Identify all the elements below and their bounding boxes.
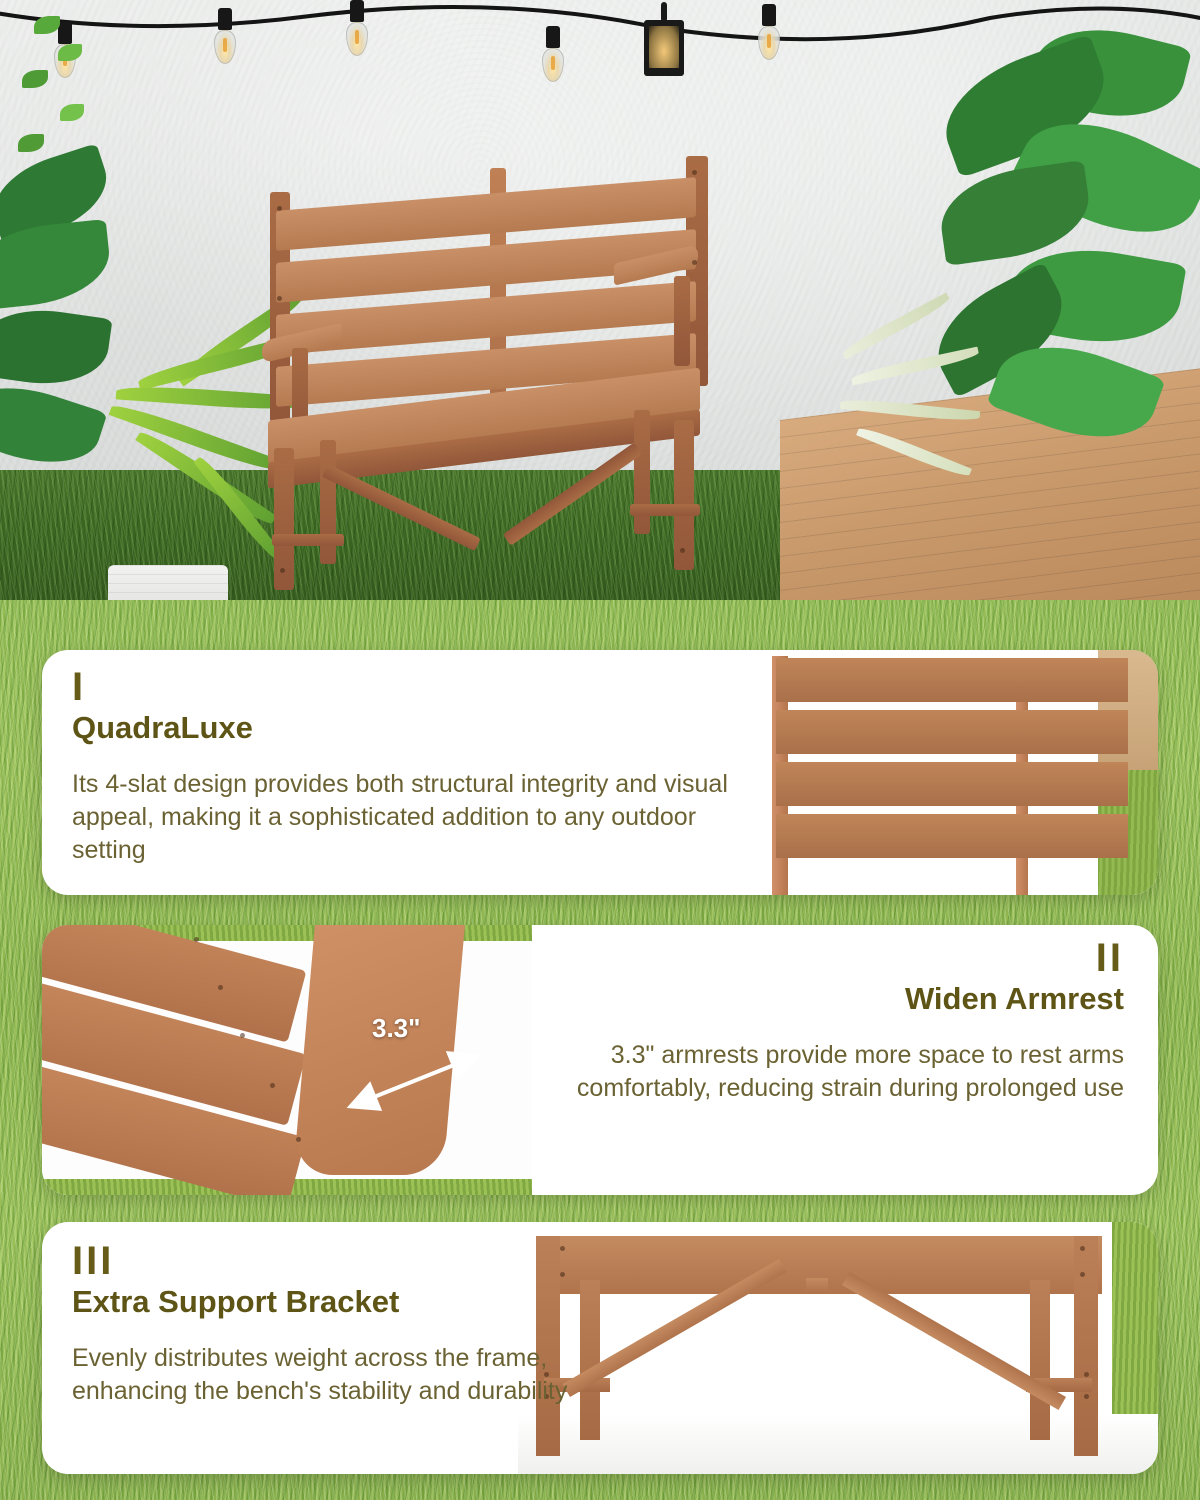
backrest-slat [776,762,1128,806]
bench-stretcher-left [272,534,344,546]
hero-product-photo [0,0,1200,660]
backrest-closeup-image [758,650,1158,895]
armrest-dimension-label: 3.3" [372,1013,420,1044]
backrest-slat [776,710,1128,754]
dimension-arrow-icon [342,1045,522,1125]
floor-shadow [518,1414,1158,1474]
backrest-slat [776,658,1128,702]
feature-2-media: 3.3" [42,925,532,1195]
feature-2-title: Widen Armrest [504,981,1124,1017]
feature-2-numeral: II [504,941,1124,975]
backrest-slat [776,814,1128,858]
light-bulb-icon [344,0,370,56]
bench-support-bracket-right [503,443,642,546]
hanging-lantern-icon [644,20,684,76]
bench-product [262,148,834,596]
feature-3-numeral: III [72,1244,592,1278]
feature-card-widen-armrest: 3.3" II Widen Armrest 3.3" armrests prov… [42,925,1158,1195]
feature-1-media [758,650,1158,895]
bench-support-bracket-left [322,464,481,551]
feature-card-support-bracket: III Extra Support Bracket Evenly distrib… [42,1222,1158,1474]
light-bulb-icon [540,26,566,82]
armrest-closeup-image: 3.3" [42,925,532,1195]
feature-3-title: Extra Support Bracket [72,1284,592,1320]
bracket-leg-right-outer [1074,1236,1098,1456]
pampas-grass [830,300,1020,510]
feature-1-title: QuadraLuxe [72,710,772,746]
feature-1-description: Its 4-slat design provides both structur… [72,768,772,867]
feature-2-text: II Widen Armrest 3.3" armrests provide m… [504,941,1124,1105]
feature-card-quadraluxe: I QuadraLuxe Its 4-slat design provides … [42,650,1158,895]
feature-1-numeral: I [72,670,772,704]
bracket-apex [806,1278,828,1292]
feature-3-description: Evenly distributes weight across the fra… [72,1342,592,1408]
bench-stretcher-right [630,504,700,516]
feature-1-text: I QuadraLuxe Its 4-slat design provides … [72,670,772,867]
feature-3-media [518,1222,1158,1474]
bracket-leg-right-inner [1030,1280,1050,1440]
bench-arm-post-right [674,276,690,366]
light-bulb-icon [756,4,782,60]
support-bracket-image [518,1222,1158,1474]
light-bulb-icon [212,8,238,64]
feature-2-description: 3.3" armrests provide more space to rest… [504,1039,1124,1105]
feature-3-text: III Extra Support Bracket Evenly distrib… [72,1244,592,1408]
